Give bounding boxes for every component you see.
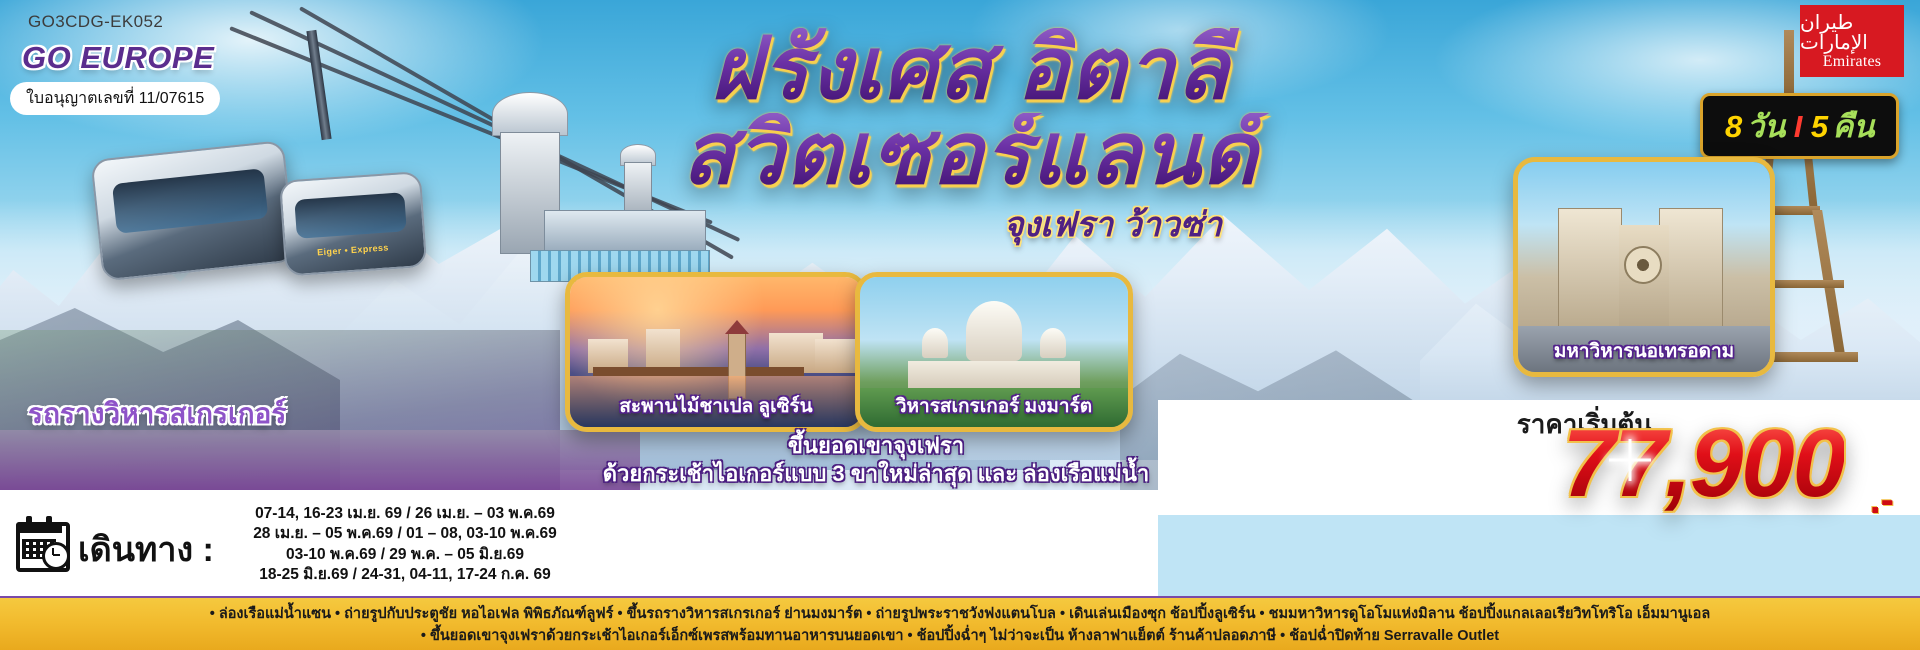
duration-nights-number: 5 — [1811, 109, 1828, 144]
travel-date-row: 03-10 พ.ค.69 / 29 พ.ค. – 05 มิ.ย.69 — [220, 545, 590, 565]
photo-card-sacre-coeur: วิหารสเกรเกอร์ มงมาร์ต — [855, 272, 1133, 432]
duration-badge: 8 วัน I 5 คืน — [1700, 93, 1899, 159]
travel-date-row: 18-25 มิ.ย.69 / 24-31, 04-11, 17-24 ก.ค.… — [220, 565, 590, 585]
itinerary-strip: • ล่องเรือแม่น้ำแซน • ถ่ายรูปกับประตูชัย… — [0, 596, 1920, 650]
headline-line-1: ฝรั่งเศส อิตาลี — [600, 28, 1340, 111]
calendar-clock-icon — [14, 514, 68, 568]
license-number: ใบอนุญาตเลขที่ 11/07615 — [10, 82, 220, 115]
headline-line-2: สวิตเซอร์แลนด์ — [600, 113, 1340, 196]
duration-nights-unit: คืน — [1833, 109, 1875, 144]
emirates-logo: طيران الإمارات Emirates — [1800, 5, 1904, 77]
price-panel: ราคาเริ่มต้น 77,900 .- — [1158, 400, 1920, 515]
travel-dates-bar: เดินทาง : 07-14, 16-23 เม.ย. 69 / 26 เม.… — [0, 490, 1158, 600]
travel-date-row: 28 เม.ย. – 05 พ.ค.69 / 01 – 08, 03-10 พ.… — [220, 524, 590, 544]
price-amount: 77,900 — [1562, 416, 1844, 512]
product-code: GO3CDG-EK052 — [28, 12, 163, 32]
sparkle-icon-left — [1196, 418, 1236, 458]
brand-logo-text: GO EUROPE — [22, 40, 214, 76]
emirates-arabic-mark: طيران الإمارات — [1800, 12, 1904, 52]
duration-days-unit: วัน — [1747, 109, 1786, 144]
itinerary-line-2: • ขึ้นยอดเขาจุงเฟราด้วยกระเช้าไอเกอร์เอ็… — [421, 625, 1499, 647]
highlight-note-line-1: ขึ้นยอดเขาจุงเฟรา — [590, 432, 1162, 460]
photo-card-lucerne: สะพานไม้ชาเปล ลูเซิร์น — [565, 272, 867, 432]
caption-notre-dame: มหาวิหารนอเทรอดาม — [1518, 336, 1770, 366]
headline-subtitle: จุงเฟรา ว้าวซ่า — [600, 197, 1340, 251]
travel-dates-list: 07-14, 16-23 เม.ย. 69 / 26 เม.ย. – 03 พ.… — [220, 504, 590, 586]
gondola-cabin-right: Eiger • Express — [279, 171, 423, 272]
caption-lucerne: สะพานไม้ชาเปล ลูเซิร์น — [570, 391, 862, 421]
rail-strip — [0, 430, 640, 490]
price-suffix: .- — [1870, 478, 1894, 523]
caption-tram-scheidegg: รถรางวิหารสเกรเกอร์ — [28, 392, 286, 436]
travel-promo-banner: Eiger • Express GO3CDG-EK052 GO EUROPE ใ… — [0, 0, 1920, 650]
itinerary-line-1: • ล่องเรือแม่น้ำแซน • ถ่ายรูปกับประตูชัย… — [210, 603, 1711, 625]
photo-card-notre-dame: มหาวิหารนอเทรอดาม — [1513, 157, 1775, 377]
travel-label: เดินทาง : — [78, 522, 214, 576]
caption-sacre-coeur: วิหารสเกรเกอร์ มงมาร์ต — [860, 391, 1128, 421]
travel-date-row: 07-14, 16-23 เม.ย. 69 / 26 เม.ย. – 03 พ.… — [220, 504, 590, 524]
duration-days-number: 8 — [1725, 109, 1742, 144]
emirates-wordmark: Emirates — [1823, 53, 1881, 71]
duration-separator: I — [1790, 109, 1807, 144]
headline-block: ฝรั่งเศส อิตาลี สวิตเซอร์แลนด์ จุงเฟรา ว… — [600, 28, 1340, 251]
gondola-cabin-left — [90, 140, 291, 277]
